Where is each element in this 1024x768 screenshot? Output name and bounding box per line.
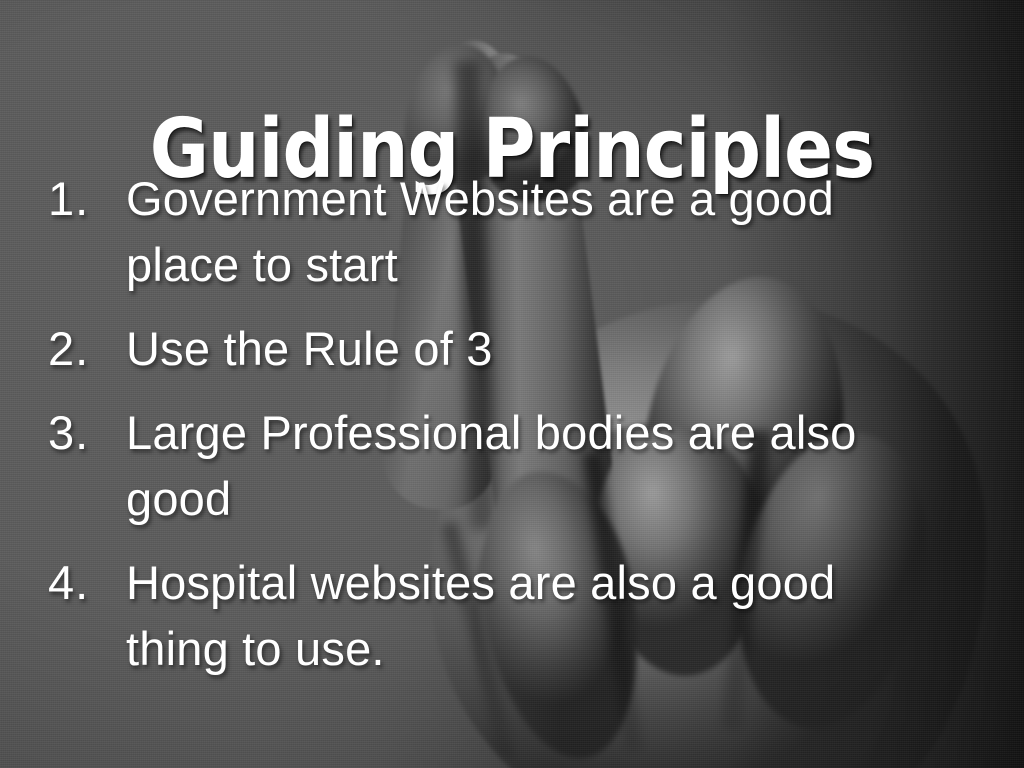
presentation-slide: Guiding Principles 1. Government Website… [0, 0, 1024, 768]
principle-number-4: 4. [48, 550, 126, 616]
principles-list: 1. Government Websites are a good place … [48, 166, 878, 700]
principle-number-1: 1. [48, 166, 126, 232]
principle-text-2: Use the Rule of 3 [126, 316, 878, 382]
principle-text-4: Hospital websites are also a good thing … [126, 550, 878, 682]
principle-item-1: 1. Government Websites are a good place … [48, 166, 878, 298]
principle-item-3: 3. Large Professional bodies are also go… [48, 400, 878, 532]
principle-item-4: 4. Hospital websites are also a good thi… [48, 550, 878, 682]
principle-number-2: 2. [48, 316, 126, 382]
principle-number-3: 3. [48, 400, 126, 466]
slide-content: Guiding Principles 1. Government Website… [0, 0, 1024, 768]
principle-text-1: Government Websites are a good place to … [126, 166, 878, 298]
principle-text-3: Large Professional bodies are also good [126, 400, 878, 532]
principle-item-2: 2. Use the Rule of 3 [48, 316, 878, 382]
